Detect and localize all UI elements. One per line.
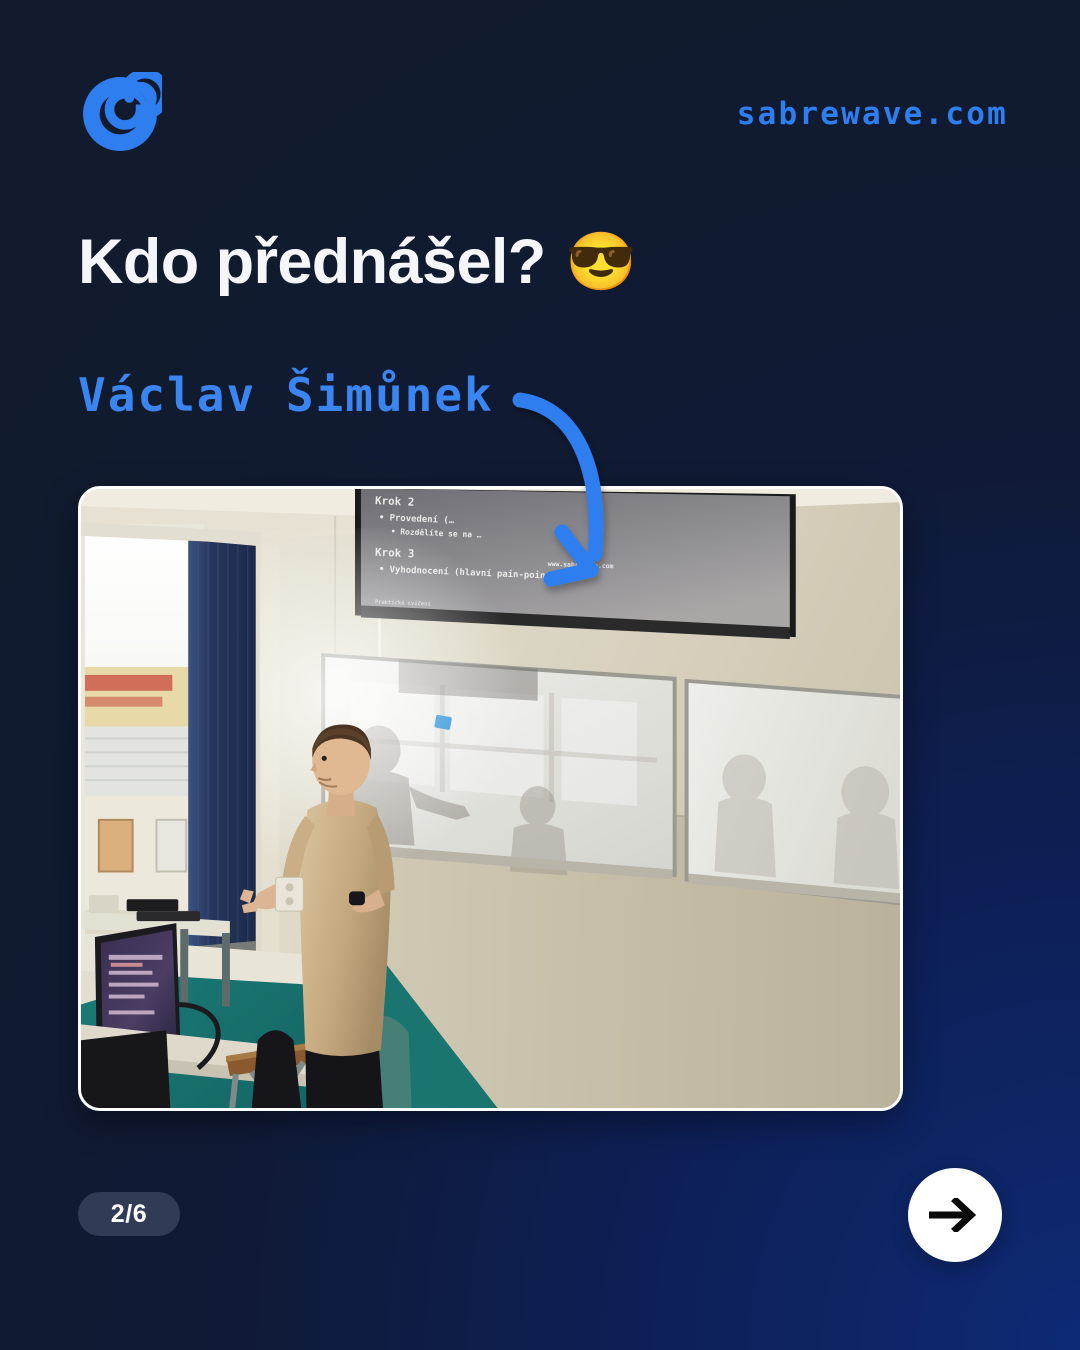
- page-title: Kdo přednášel? 😎: [78, 229, 636, 295]
- classroom-window: [81, 528, 202, 955]
- photo-scene: Krok 2 • Provedení (… • Rozdělíte se na …: [81, 489, 900, 1108]
- page-title-text: Kdo přednášel?: [78, 229, 546, 295]
- wristwatch: [349, 891, 365, 905]
- wave-spiral-logo-icon: [78, 72, 162, 156]
- presentation-photo: Krok 2 • Provedení (… • Rozdělíte se na …: [78, 486, 903, 1111]
- whiteboard-right: [685, 679, 900, 905]
- slide-header: sabrewave.com: [78, 72, 1008, 156]
- wall-socket: [276, 877, 304, 911]
- arrow-right-icon: [929, 1198, 981, 1232]
- smiling-face-with-sunglasses-icon: 😎: [566, 234, 636, 291]
- site-url-label: sabrewave.com: [737, 96, 1008, 132]
- carousel-slide: sabrewave.com Kdo přednášel? 😎 Václav Ši…: [0, 0, 1080, 1350]
- next-slide-button[interactable]: [908, 1168, 1002, 1262]
- page-indicator: 2/6: [78, 1192, 180, 1236]
- speaker-name-label: Václav Šimůnek: [78, 368, 494, 422]
- slide-line-1: Krok 2: [375, 494, 415, 509]
